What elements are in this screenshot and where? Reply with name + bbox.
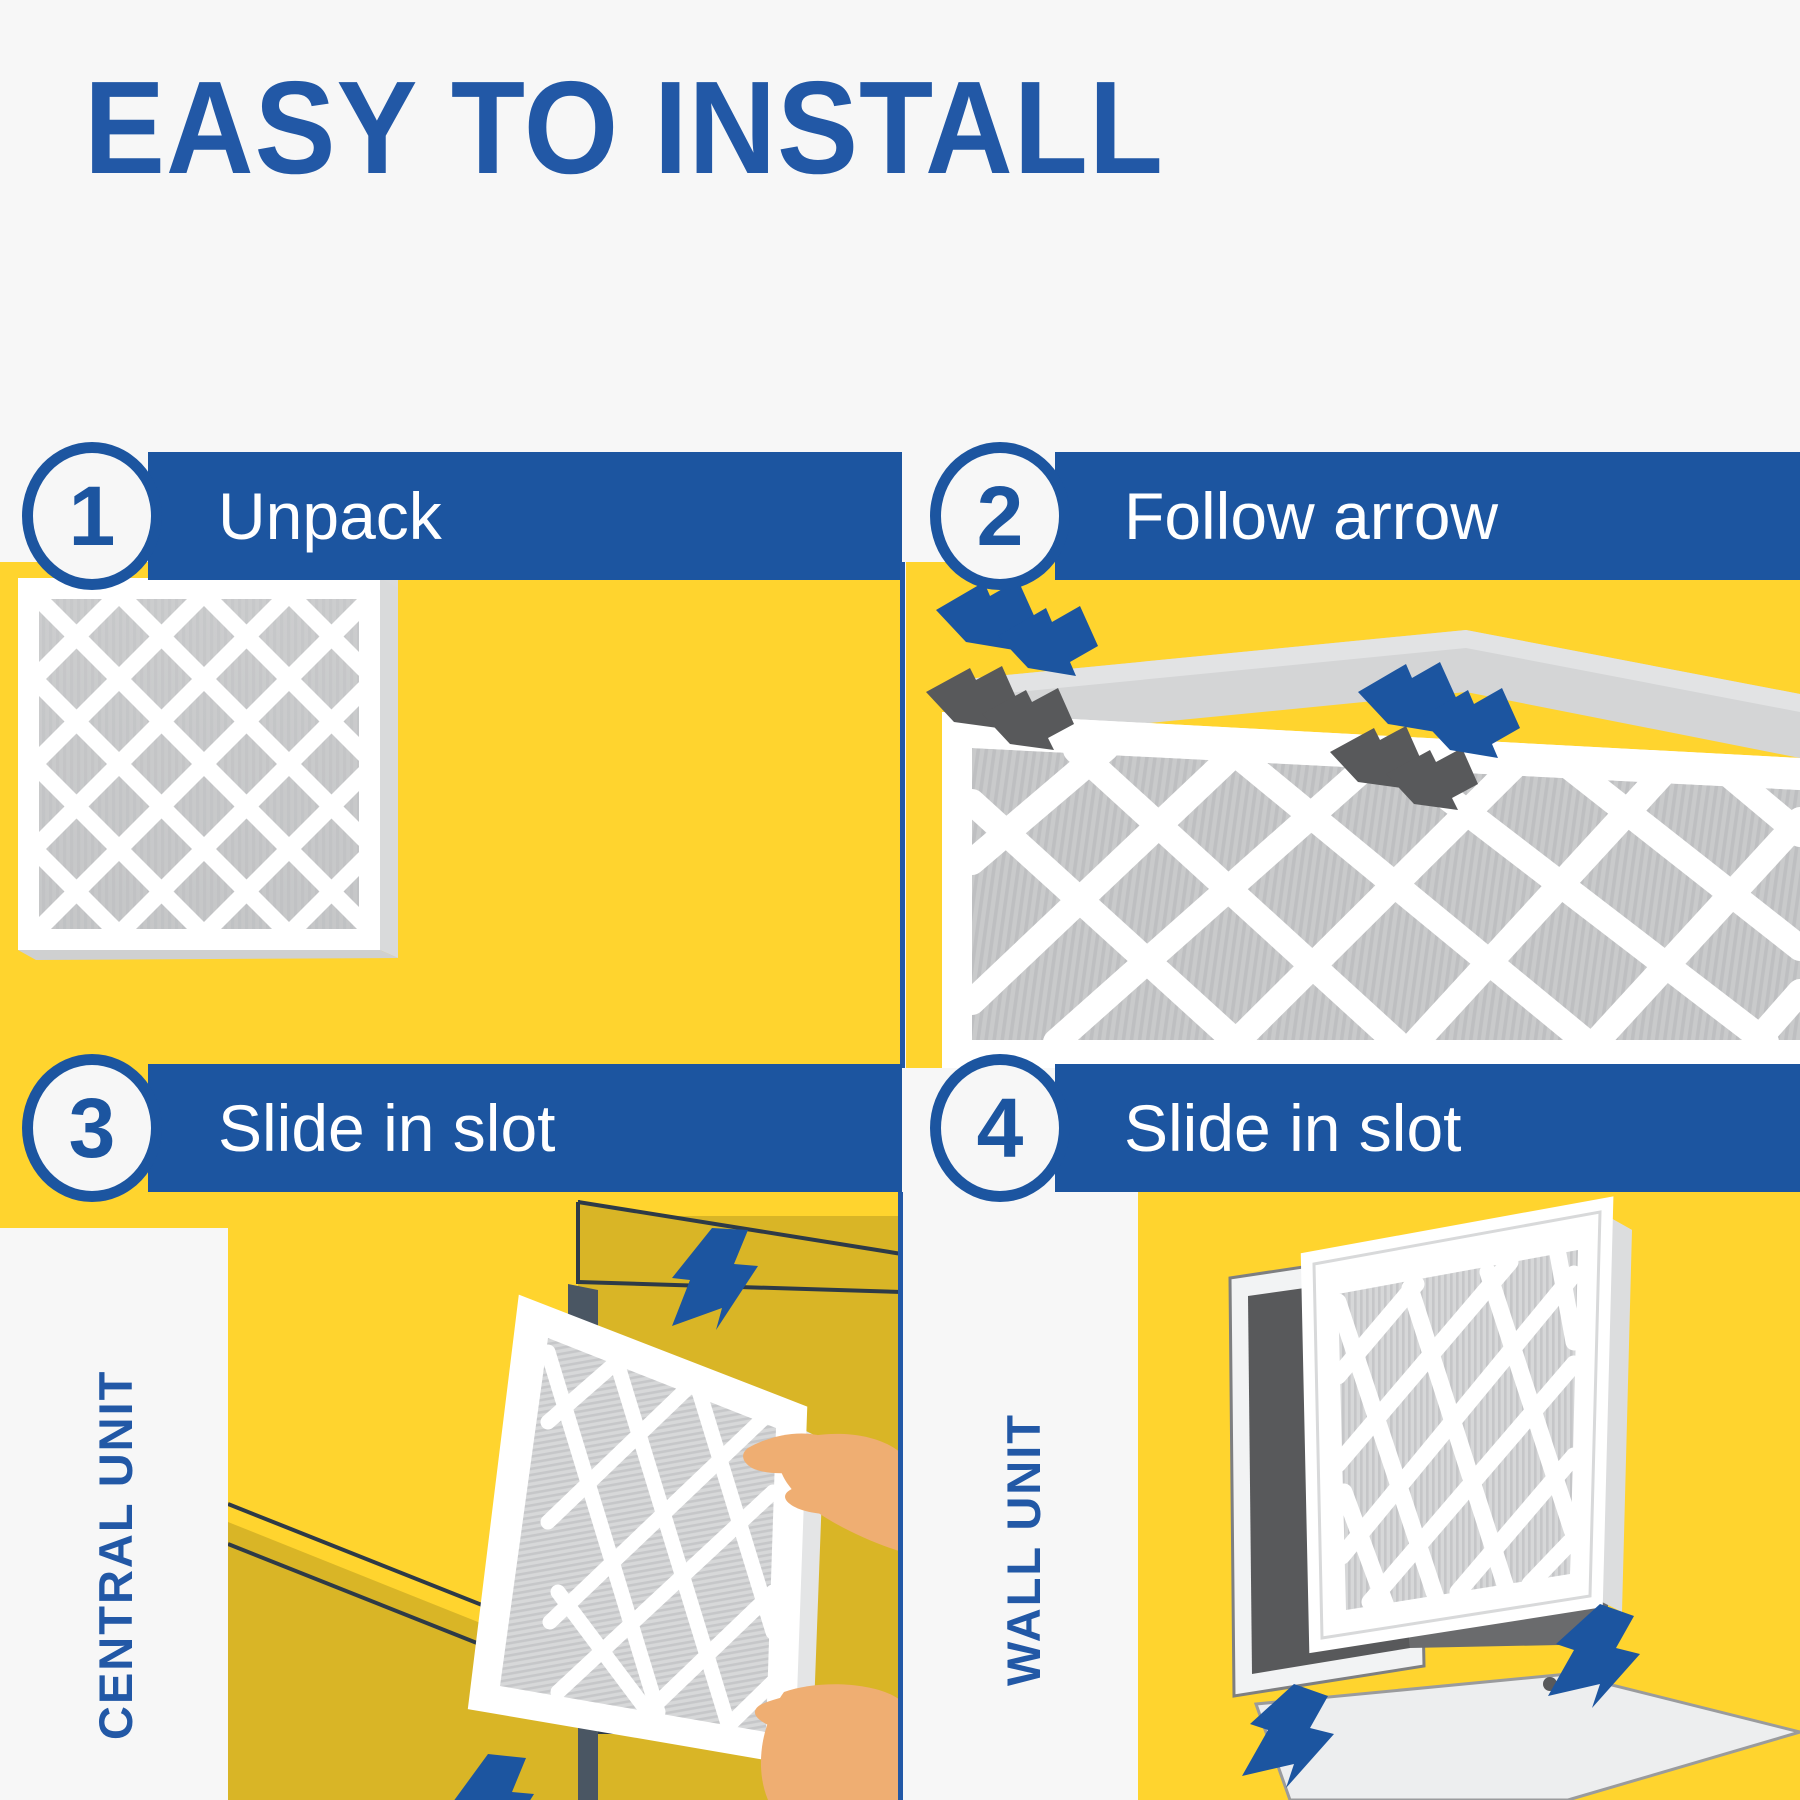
step-4-label: Slide in slot [1124, 1064, 1462, 1192]
filter-panel [1314, 1212, 1632, 1638]
wall-unit-filter-slot-illustration [1138, 1192, 1800, 1800]
step-2-illustration [906, 562, 1800, 1068]
central-unit-filter-slot-illustration [228, 1192, 902, 1800]
airflow-direction-arrow-blue-left [936, 580, 1098, 676]
step-3-label: Slide in slot [218, 1064, 556, 1192]
step-1-number-badge: 1 [22, 442, 162, 590]
wall-unit-caption: WALL UNIT [996, 1413, 1051, 1686]
column-divider-bottom [898, 1192, 903, 1800]
step-2-number-badge: 2 [930, 442, 1070, 590]
central-unit-caption: CENTRAL UNIT [88, 1370, 143, 1740]
column-divider-top [900, 562, 905, 1068]
hand-lower [755, 1684, 902, 1800]
tilted-filter-airflow-illustration [906, 562, 1800, 1068]
step-3-number-badge: 3 [22, 1054, 162, 1202]
step-4-number-badge: 4 [930, 1054, 1070, 1202]
step-1-label: Unpack [218, 452, 442, 580]
step-4-illustration [1138, 1192, 1800, 1800]
page-title: EASY TO INSTALL [84, 62, 1164, 194]
step-3-illustration [228, 1192, 902, 1800]
step-2-label: Follow arrow [1124, 452, 1498, 580]
infographic-canvas: EASY TO INSTALL [0, 0, 1800, 1800]
